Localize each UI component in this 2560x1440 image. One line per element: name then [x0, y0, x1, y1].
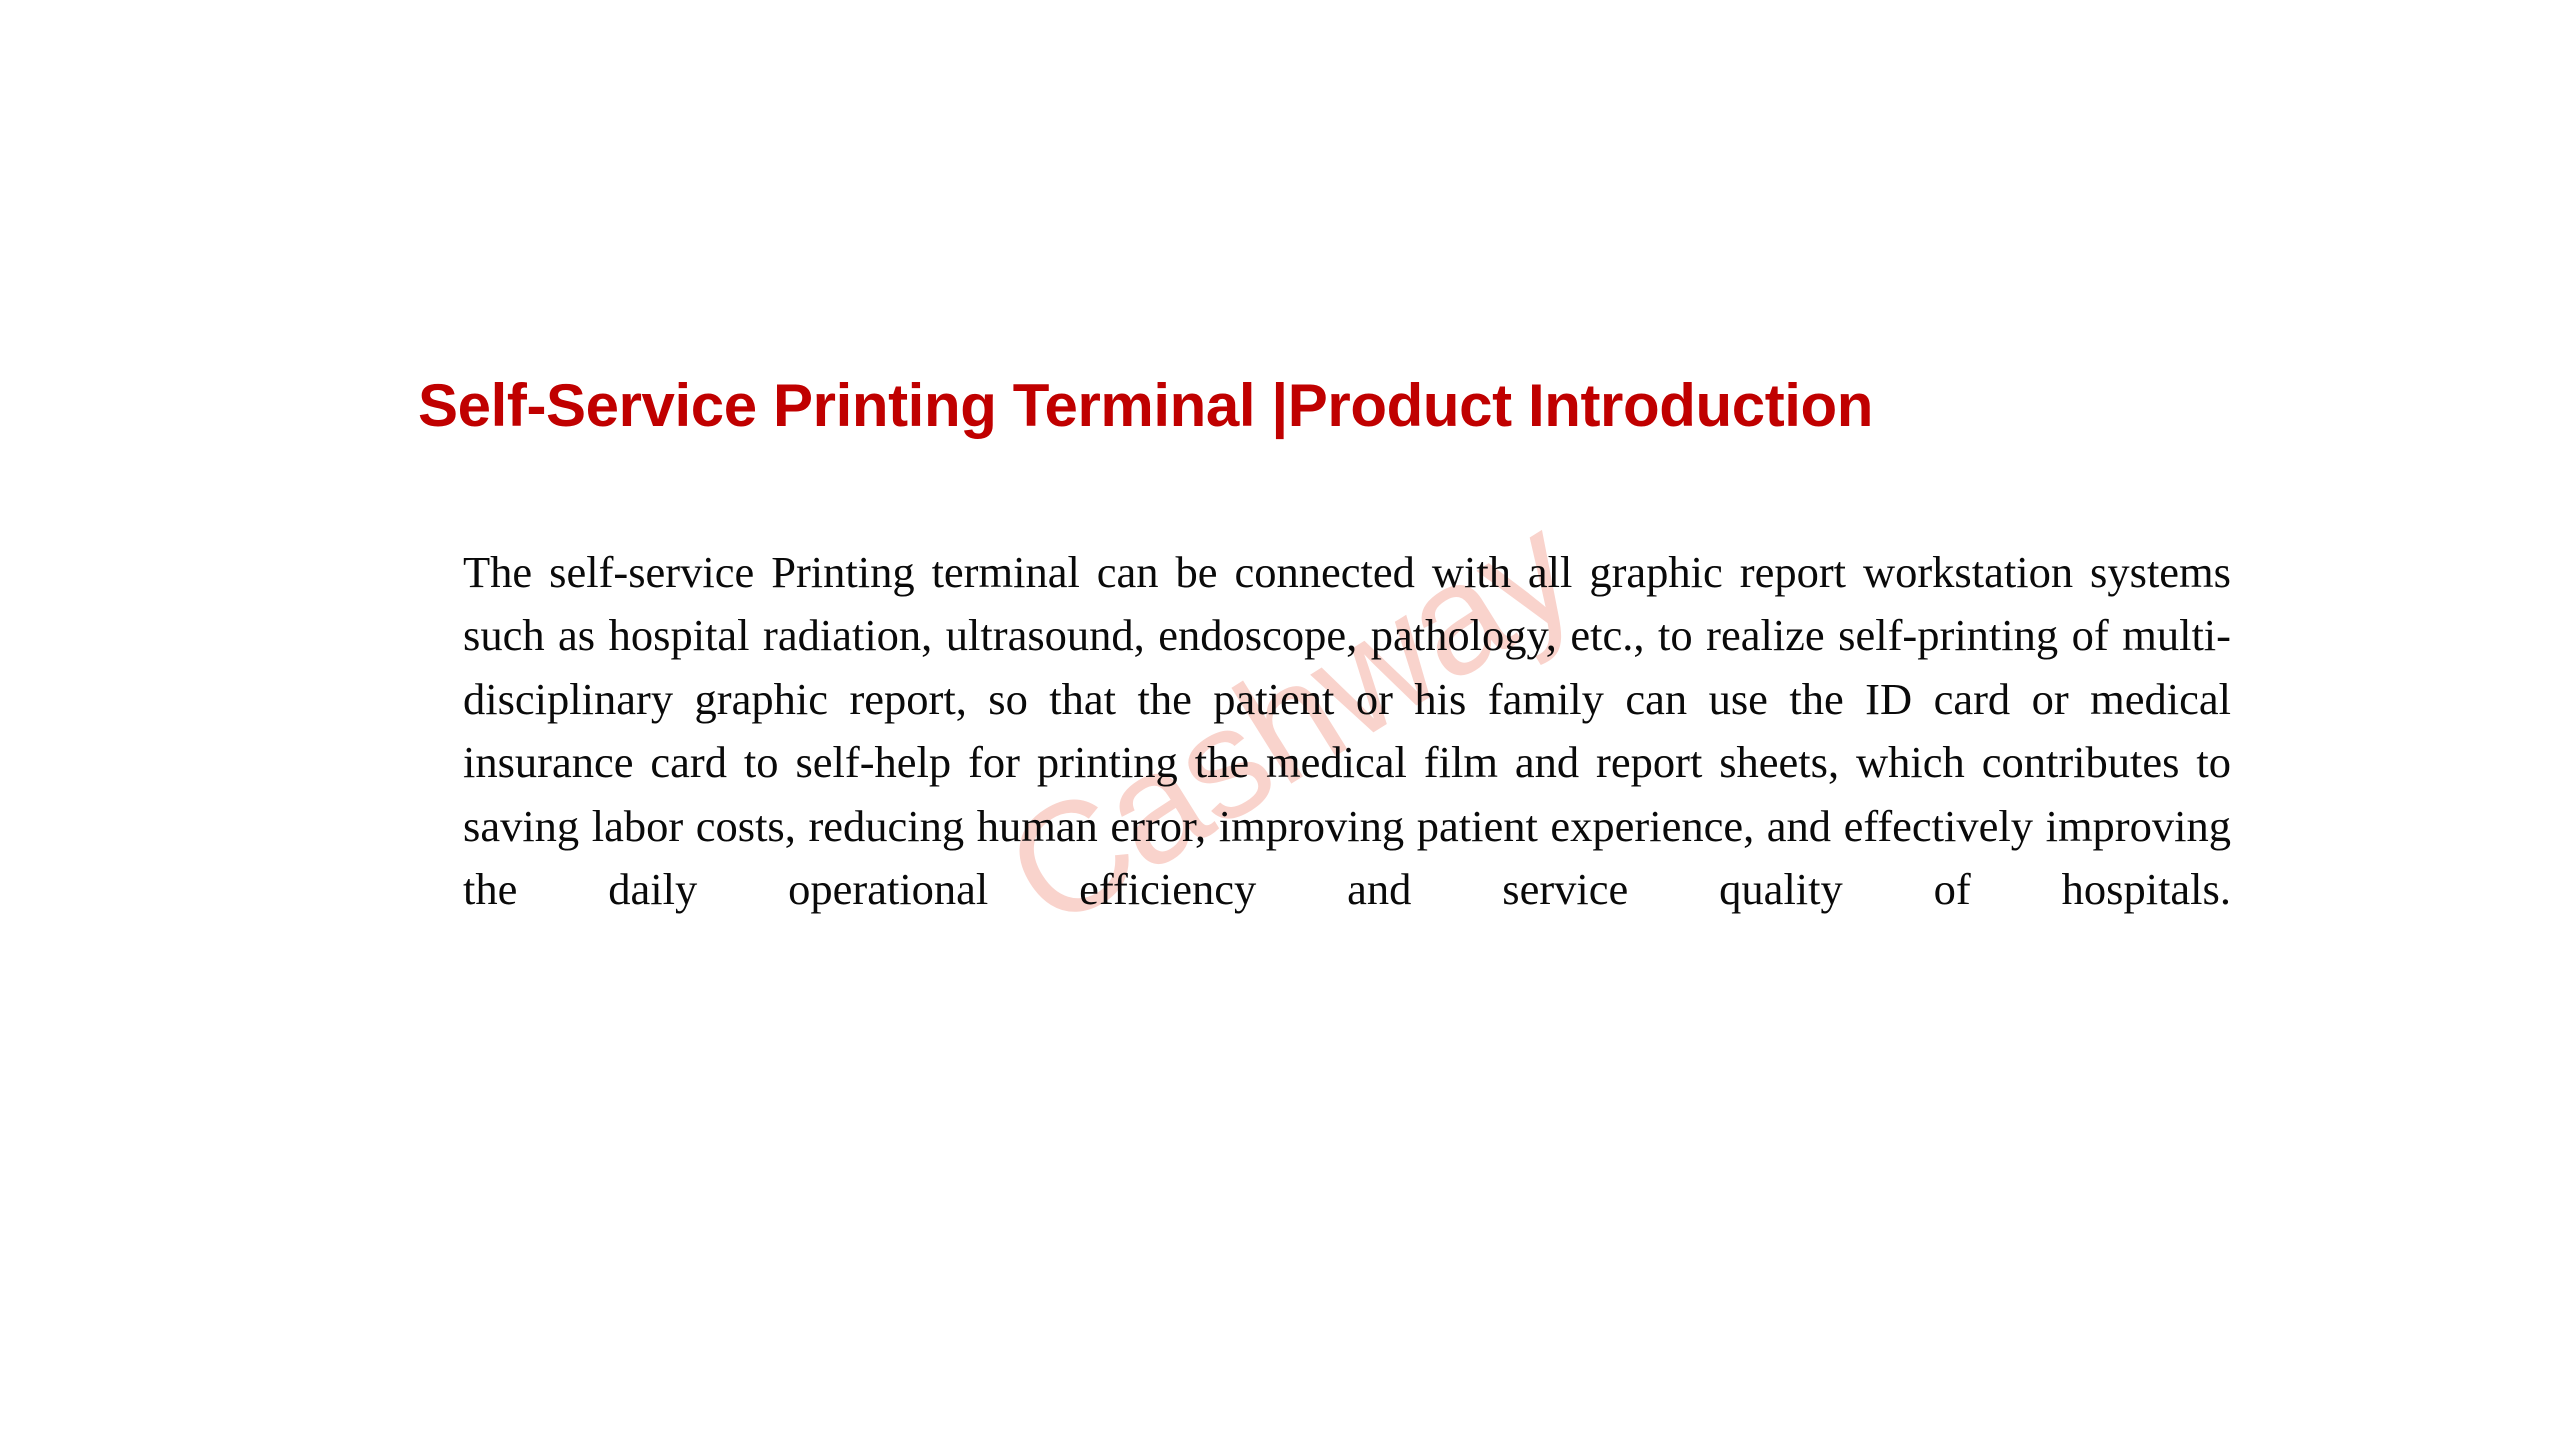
product-introduction-paragraph: The self-service Printing terminal can b… [463, 541, 2231, 986]
slide-canvas: Cashway Self-Service Printing Terminal |… [0, 0, 2560, 1440]
page-title: Self-Service Printing Terminal |Product … [418, 376, 2178, 436]
slide-content: Self-Service Printing Terminal |Product … [0, 0, 2560, 1440]
